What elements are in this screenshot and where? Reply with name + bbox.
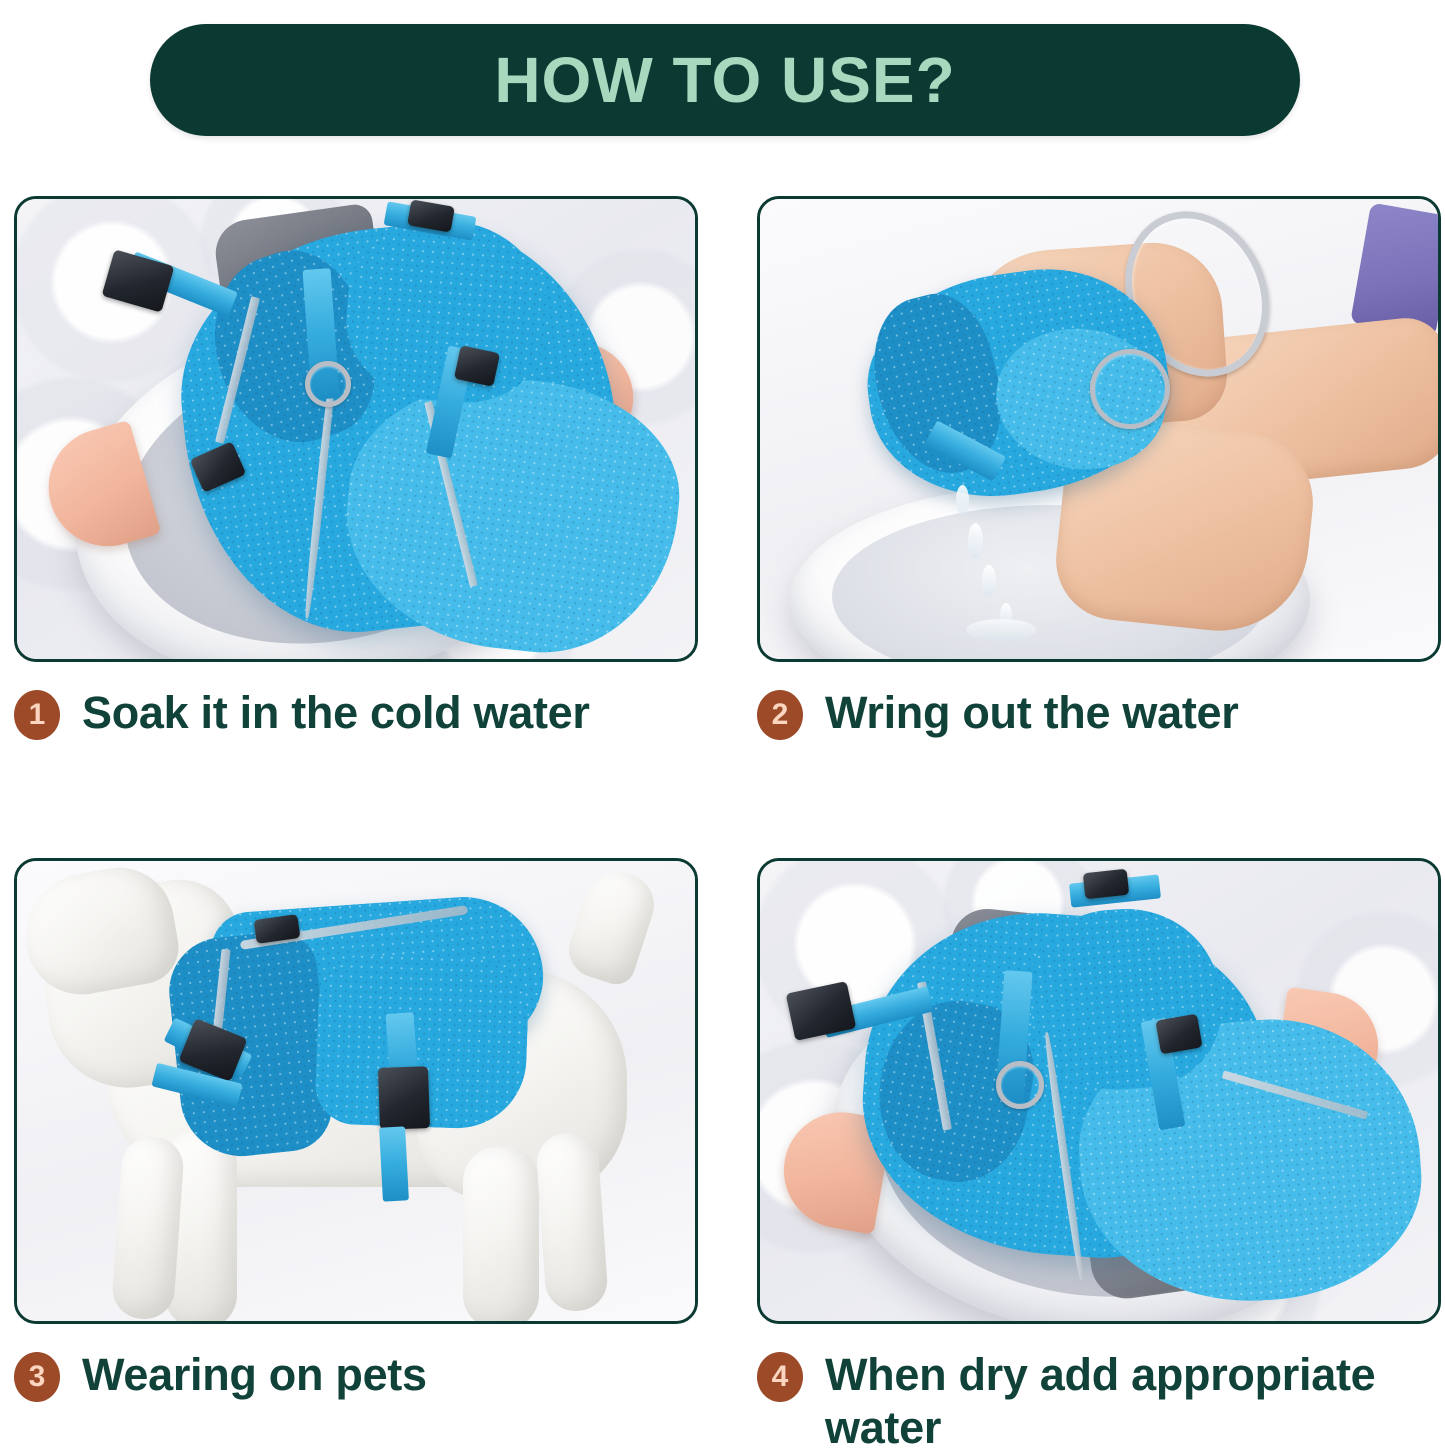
water-drop-2: [968, 523, 983, 559]
page-title-banner: HOW TO USE?: [150, 24, 1300, 136]
step-card-1: 1 Soak it in the cold water: [14, 196, 704, 740]
water-splash: [966, 619, 1036, 641]
step-4-caption: 4 When dry add appropriate water: [757, 1348, 1445, 1454]
step-label-2: Wring out the water: [825, 686, 1238, 739]
step-label-3: Wearing on pets: [82, 1348, 427, 1401]
step-1-photo: [14, 196, 698, 662]
step-3-caption: 3 Wearing on pets: [14, 1348, 704, 1402]
step-label-4: When dry add appropriate water: [825, 1348, 1425, 1454]
step-card-4: 4 When dry add appropriate water: [757, 858, 1445, 1454]
harness-d-ring: [305, 361, 351, 407]
scene-rewet-harness: [760, 861, 1438, 1321]
worn-strap-rear-lower: [379, 1126, 409, 1201]
step-3-photo: [14, 858, 698, 1324]
step-card-2: 2 Wring out the water: [757, 196, 1445, 740]
scene-soak-harness: [17, 199, 695, 659]
water-drop-1: [956, 485, 969, 515]
page-title: HOW TO USE?: [494, 48, 955, 112]
worn-buckle-rear: [378, 1066, 430, 1130]
step-number-badge-2: 2: [757, 690, 803, 740]
harness-d-ring-2: [996, 1061, 1044, 1109]
step-2-caption: 2 Wring out the water: [757, 686, 1445, 740]
step-number-badge-3: 3: [14, 1352, 60, 1402]
step-4-photo: [757, 858, 1441, 1324]
step-number-badge-1: 1: [14, 690, 60, 740]
scene-wring-harness: [760, 199, 1438, 659]
harness-buckle-right-2: [1155, 1014, 1202, 1055]
scene-harness-on-dog: [17, 861, 695, 1321]
dog-hind-leg-far: [535, 1131, 609, 1313]
step-label-1: Soak it in the cold water: [82, 686, 590, 739]
harness-top-buckle-2: [1083, 869, 1129, 899]
dog-front-leg-far: [111, 1135, 186, 1321]
wrung-harness-ring: [1090, 349, 1170, 429]
step-number-badge-4: 4: [757, 1352, 803, 1402]
step-1-caption: 1 Soak it in the cold water: [14, 686, 704, 740]
water-drop-3: [982, 565, 996, 597]
dog-hind-leg-near: [463, 1147, 539, 1324]
step-card-3: 3 Wearing on pets: [14, 858, 704, 1402]
step-2-photo: [757, 196, 1441, 662]
